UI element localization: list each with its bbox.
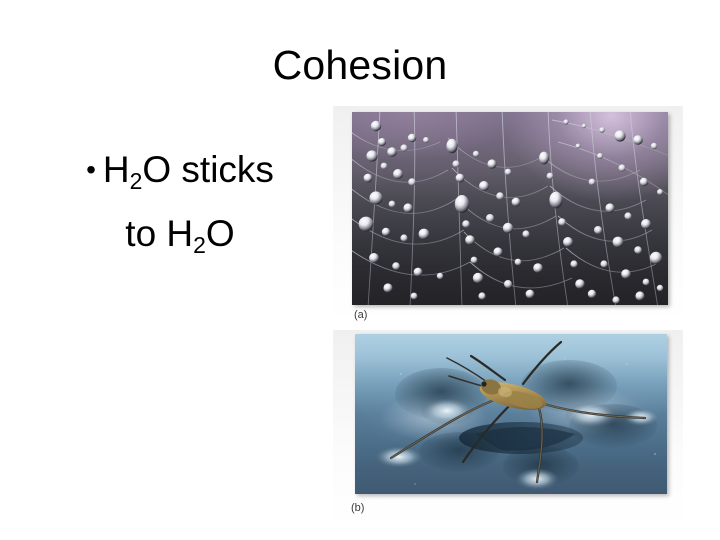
water-strider-photo[interactable] [355,334,667,494]
figure-a[interactable]: (a) [333,106,683,324]
slide-canvas: Cohesion •H2O sticks to H2O [0,0,720,540]
bullet-line1-subscript: 2 [130,168,143,194]
bullet-item-line-2: to H2O [30,202,330,266]
figure-a-caption-label: (a) [354,309,367,321]
figure-b-caption-label: (b) [351,502,364,514]
body-text-placeholder[interactable]: •H2O sticks to H2O [30,138,330,266]
bullet-line2-subscript: 2 [193,232,206,258]
bullet-item-line-1: •H2O sticks [30,138,330,202]
spider-web-dew-photo[interactable] [352,112,668,305]
slide-title: Cohesion [0,40,720,90]
bullet-line1-suffix: O sticks [142,149,274,190]
bullet-line2-prefix: to H [125,213,193,254]
dew-drops-illustration [352,112,668,305]
figure-b[interactable]: (b) [333,330,683,526]
bullet-line1-prefix: H [103,149,130,190]
water-strider-illustration [355,334,667,494]
bullet-line2-suffix: O [206,213,235,254]
figure-group: (a) [333,106,683,526]
bullet-marker-icon: • [86,154,96,185]
